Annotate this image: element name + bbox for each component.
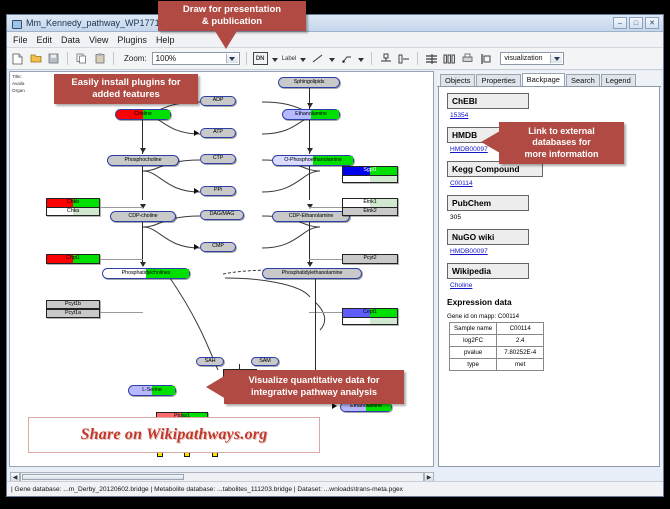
node-label: O-Phosphoethanolamine [284, 158, 342, 163]
callout-links: Link to external databases for more info… [499, 122, 624, 164]
expr-val-pvalue: 7.80252E-4 [497, 347, 544, 359]
gene-sgpl1-row2[interactable] [342, 175, 398, 183]
node-atp[interactable]: ATP [200, 128, 236, 138]
menu-file[interactable]: File [13, 35, 28, 45]
db-header-nugo: NuGO wiki [447, 229, 529, 245]
gene-label: Chpt1 [66, 256, 80, 261]
close-button[interactable]: ✕ [645, 17, 659, 29]
node-ppi[interactable]: PPi [200, 186, 236, 196]
meta-title: Title: [12, 74, 25, 81]
db-link-wikipedia[interactable]: Choline [450, 282, 659, 289]
node-label: CDP-choline [128, 214, 157, 219]
gene-label: Chkb [67, 200, 79, 205]
status-text: | Gene database: ...m_Derby_20120602.bri… [11, 486, 403, 493]
gene-etnk2[interactable]: Etnk2 [342, 207, 398, 216]
tab-backpage[interactable]: Backpage [522, 73, 565, 86]
visualization-combo[interactable]: visualization [500, 52, 564, 65]
meta-availability: Availa [12, 81, 25, 88]
gene-label: Sgpl1 [363, 168, 376, 173]
interaction-icon[interactable] [339, 51, 354, 66]
expr-val-type: met [497, 359, 544, 371]
zoom-combo[interactable]: 100% [152, 52, 240, 65]
gene-label: Pcyt1b [65, 302, 81, 307]
print-icon[interactable] [460, 51, 475, 66]
gene-chka[interactable]: Chka [46, 207, 100, 216]
pathway-canvas[interactable]: Title: Availa Organ [9, 71, 434, 467]
tab-properties[interactable]: Properties [476, 74, 520, 86]
share-banner: Share on Wikipathways.org [28, 417, 320, 453]
callout-links-pointer [481, 131, 500, 153]
new-icon[interactable] [10, 51, 25, 66]
label-dropdown-icon[interactable] [299, 51, 307, 66]
node-label: PPi [214, 188, 222, 193]
pathway-meta: Title: Availa Organ [12, 74, 25, 95]
toolbar: Zoom: 100% DN Label [7, 48, 663, 70]
gene-sgpl1[interactable]: Sgpl1 [342, 166, 398, 175]
node-label: Phosphatidylethanolamine [282, 271, 343, 276]
expression-table: Sample name C00114 log2FC 2.4 pvalue 7.8… [449, 322, 544, 371]
menu-edit[interactable]: Edit [37, 35, 53, 45]
align-icon[interactable] [378, 51, 393, 66]
line-dropdown-icon[interactable] [328, 51, 336, 66]
columns-icon[interactable] [442, 51, 457, 66]
callout-visualize: Visualize quantitative data for integrat… [224, 370, 404, 404]
node-label: L-Serine [142, 388, 162, 393]
expr-val-log2fc: 2.4 [497, 335, 544, 347]
stack-icon[interactable] [424, 51, 439, 66]
side-panel: Objects Properties Backpage Search Legen… [437, 71, 661, 467]
gene-label: Etnk2 [363, 209, 376, 214]
node-adp[interactable]: ADP [200, 96, 236, 106]
gene-label: Etnk1 [363, 200, 376, 205]
tab-objects[interactable]: Objects [440, 74, 475, 86]
gene-chpt1[interactable]: Chpt1 [46, 254, 100, 264]
pathvisio-window: Mm_Kennedy_pathway_WP1771_45176.gpml – □… [6, 14, 664, 497]
node-label: ATP [213, 130, 223, 135]
node-ctp[interactable]: CTP [200, 154, 236, 164]
menu-bar: File Edit Data View Plugins Help [7, 32, 663, 48]
label-tool[interactable]: Label [282, 56, 297, 62]
node-label: Phosphatidylcholines [122, 271, 171, 276]
node-sphingolipids[interactable]: Sphingolipids [278, 77, 340, 88]
tab-search[interactable]: Search [566, 74, 600, 86]
callout-draw-pointer [215, 31, 237, 49]
node-label: CTP [213, 156, 223, 161]
datanode-dropdown-icon[interactable] [271, 51, 279, 66]
title-bar: Mm_Kennedy_pathway_WP1771_45176.gpml – □… [7, 15, 663, 32]
node-label: Ethanolamine [350, 404, 382, 409]
expr-key-type: type [450, 359, 497, 371]
toolbar-divider-3 [246, 52, 247, 65]
work-area: Title: Availa Organ [7, 69, 663, 469]
minimize-button[interactable]: – [613, 17, 627, 29]
node-l-serine-left[interactable]: L-Serine [128, 385, 176, 396]
callout-visualize-pointer [206, 375, 226, 399]
toolbar-divider [67, 52, 68, 65]
node-o-phosphoethanolamine[interactable]: O-Phosphoethanolamine [272, 155, 354, 166]
gene-id-on-mapp: Gene id on mapp: C00114 [447, 313, 659, 320]
order-icon[interactable] [478, 51, 493, 66]
side-panel-tabs: Objects Properties Backpage Search Legen… [437, 71, 661, 87]
expr-key-sample: Sample name [450, 323, 497, 335]
datanode-icon[interactable]: DN [253, 52, 268, 65]
hscroll-thumb[interactable] [22, 474, 184, 480]
group-icon[interactable] [396, 51, 411, 66]
db-value-pubchem: 305 [450, 214, 659, 221]
node-phosphatidylethanolamine[interactable]: Phosphatidylethanolamine [262, 268, 362, 279]
node-label: Choline [134, 112, 152, 117]
callout-plugins: Easily install plugins for added feature… [54, 74, 198, 104]
expression-data-heading: Expression data [447, 297, 659, 307]
gene-label: Cept1 [363, 310, 377, 315]
node-cmp[interactable]: CMP [200, 242, 236, 252]
gene-pcyt2[interactable]: Pcyt2 [342, 254, 398, 264]
node-ethanolamine-top[interactable]: Ethanolamine [282, 109, 340, 120]
db-header-wikipedia: Wikipedia [447, 263, 529, 279]
toolbar-divider-4 [371, 52, 372, 65]
node-label: Phosphocholine [125, 158, 162, 163]
zoom-label: Zoom: [124, 54, 147, 63]
status-bar: | Gene database: ...m_Derby_20120602.bri… [7, 481, 663, 496]
backpage-panel: ChEBI 15354 HMDB HMDB00097 Kegg Compound… [438, 87, 660, 467]
node-phosphocholine[interactable]: Phosphocholine [107, 155, 179, 166]
menu-help[interactable]: Help [156, 35, 175, 45]
node-dagmag[interactable]: DAG/MAG [200, 210, 244, 220]
node-label: Sphingolipids [294, 80, 325, 85]
node-label: ADP [213, 98, 224, 103]
gene-pcyt1a[interactable]: Pcyt1a [46, 309, 100, 318]
interaction-dropdown-icon[interactable] [357, 51, 365, 66]
node-sah[interactable]: SAH [196, 357, 224, 366]
menu-plugins[interactable]: Plugins [117, 35, 147, 45]
maximize-button[interactable]: □ [629, 17, 643, 29]
db-header-chebi: ChEBI [447, 93, 529, 109]
visualization-value: visualization [504, 55, 542, 62]
node-cdp-choline[interactable]: CDP-choline [110, 211, 176, 222]
open-folder-icon[interactable] [28, 51, 43, 66]
node-label: DAG/MAG [210, 212, 235, 217]
toolbar-divider-5 [417, 52, 418, 65]
menu-view[interactable]: View [89, 35, 108, 45]
visualization-chevron-down-icon[interactable] [550, 54, 562, 63]
zoom-value: 100% [156, 54, 176, 63]
menu-data[interactable]: Data [61, 35, 80, 45]
table-row: type met [450, 359, 544, 371]
gene-label: Pcyt1a [65, 311, 81, 316]
node-label: SAH [205, 359, 216, 364]
meta-organism: Organ [12, 88, 25, 95]
gene-pcyt1b[interactable]: Pcyt1b [46, 300, 100, 309]
gene-etnk1[interactable]: Etnk1 [342, 198, 398, 207]
node-cdp-ethanolamine[interactable]: CDP-Ethanolamine [272, 211, 350, 222]
toolbar-divider-2 [113, 52, 114, 65]
node-label: CMP [212, 244, 224, 249]
copy-icon[interactable] [74, 51, 89, 66]
paste-icon[interactable] [92, 51, 107, 66]
db-link-kegg[interactable]: C00114 [450, 180, 659, 187]
gene-cept1-row2[interactable] [342, 317, 398, 325]
share-banner-text: Share on Wikipathways.org [81, 426, 268, 444]
expr-key-pvalue: pvalue [450, 347, 497, 359]
node-sam[interactable]: SAM [251, 357, 279, 366]
expr-key-log2fc: log2FC [450, 335, 497, 347]
tab-legend[interactable]: Legend [601, 74, 636, 86]
db-header-pubchem: PubChem [447, 195, 529, 211]
chevron-down-icon[interactable] [226, 54, 238, 63]
table-row: log2FC 2.4 [450, 335, 544, 347]
db-link-chebi[interactable]: 15354 [450, 112, 659, 119]
table-row: pvalue 7.80252E-4 [450, 347, 544, 359]
gene-cept1[interactable]: Cept1 [342, 308, 398, 317]
node-label: Ethanolamine [295, 112, 327, 117]
line-icon[interactable] [310, 51, 325, 66]
db-link-nugo[interactable]: HMDB00097 [450, 248, 659, 255]
table-row: Sample name C00114 [450, 323, 544, 335]
node-choline-top[interactable]: Choline [115, 109, 171, 120]
gene-label: Chka [67, 209, 79, 214]
save-icon[interactable] [46, 51, 61, 66]
expr-val-sample: C00114 [497, 323, 544, 335]
node-label: SAM [259, 359, 270, 364]
app-icon [11, 18, 22, 29]
callout-draw: Draw for presentation & publication [158, 1, 306, 31]
gene-chkb[interactable]: Chkb [46, 198, 100, 207]
node-label: CDP-Ethanolamine [289, 214, 334, 219]
gene-label: Pcyt2 [364, 256, 377, 261]
node-phosphatidylcholines[interactable]: Phosphatidylcholines [102, 268, 190, 279]
